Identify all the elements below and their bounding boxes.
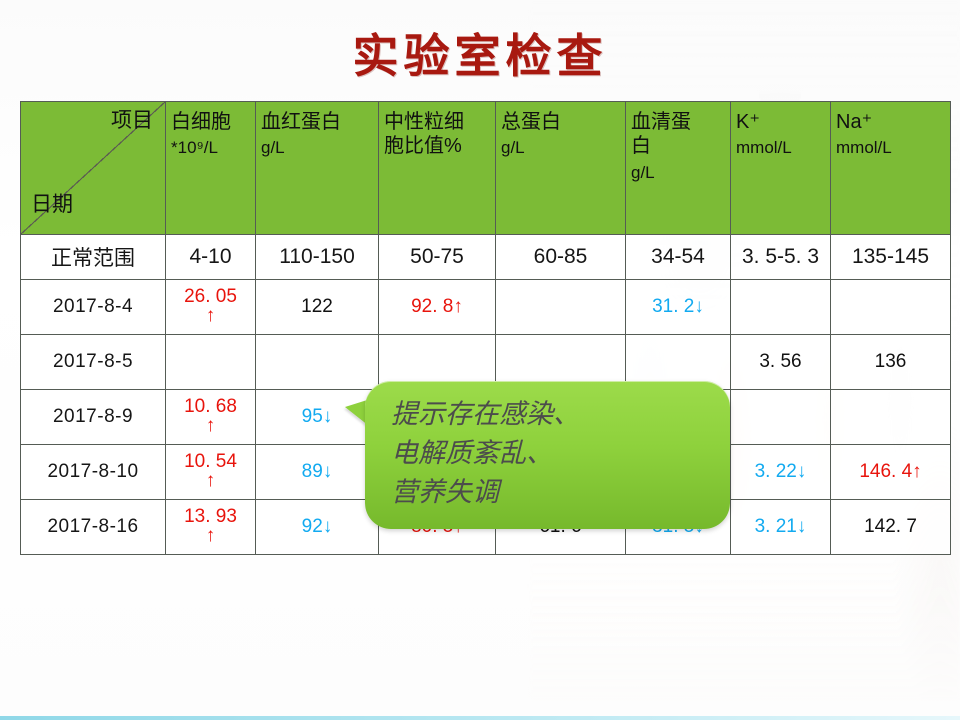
normal-range-value: 4-10 <box>166 235 256 280</box>
result-value: 146. 4↑ <box>859 462 921 482</box>
result-cell: 3. 56 <box>731 335 831 390</box>
result-cell: 3. 21↓ <box>731 500 831 555</box>
result-cell: 10. 54↑ <box>166 445 256 500</box>
header-col-wbc-unit: *10⁹/L <box>171 138 251 159</box>
header-col-sodium: Na⁺ mmol/L <box>831 102 951 235</box>
header-col-potassium: K⁺ mmol/L <box>731 102 831 235</box>
arrow-down-icon: ↓ <box>323 461 333 482</box>
table-header: 项目 日期 白细胞 *10⁹/L 血红蛋白 g/L 中性粒细 胞比值% 总蛋白 <box>21 102 951 235</box>
header-col-wbc: 白细胞 *10⁹/L <box>166 102 256 235</box>
result-number: 10. 68 <box>184 397 237 417</box>
result-cell <box>731 390 831 445</box>
result-cell: 10. 68↑ <box>166 390 256 445</box>
result-value: 89↓ <box>302 462 333 482</box>
header-col-neutrophil: 中性粒细 胞比值% <box>379 102 496 235</box>
row-date: 2017-8-10 <box>21 445 166 500</box>
result-value: 136 <box>875 352 907 372</box>
header-col-potassium-name: K⁺ <box>736 110 826 134</box>
arrow-down-icon: ↓ <box>797 461 807 482</box>
result-cell <box>831 280 951 335</box>
normal-range-row: 正常范围4-10110-15050-7560-8534-543. 5-5. 31… <box>21 235 951 280</box>
arrow-up-icon: ↑ <box>206 525 216 546</box>
arrow-down-icon: ↓ <box>797 516 807 537</box>
result-value: 95↓ <box>302 407 333 427</box>
header-col-potassium-unit: mmol/L <box>736 138 826 159</box>
result-cell: 92. 8↑ <box>379 280 496 335</box>
result-cell <box>496 280 626 335</box>
header-corner-cell: 项目 日期 <box>21 102 166 235</box>
normal-range-value: 3. 5-5. 3 <box>731 235 831 280</box>
row-date: 2017-8-5 <box>21 335 166 390</box>
result-value: 31. 2↓ <box>652 297 704 317</box>
result-value: 3. 22↓ <box>755 462 807 482</box>
result-cell: 13. 93↑ <box>166 500 256 555</box>
page-title: 实验室检查 <box>0 20 960 86</box>
result-value: 10. 54↑ <box>184 452 237 492</box>
header-col-hemoglobin-unit: g/L <box>261 138 374 159</box>
result-value: 3. 21↓ <box>755 517 807 537</box>
header-col-serum-albumin-name: 血清蛋 白 <box>631 110 726 159</box>
normal-range-value: 50-75 <box>379 235 496 280</box>
header-col-total-protein-name: 总蛋白 <box>501 110 621 134</box>
result-value: 3. 56 <box>759 352 801 372</box>
header-col-sodium-name: Na⁺ <box>836 110 946 134</box>
table-row: 2017-8-426. 05↑12292. 8↑31. 2↓ <box>21 280 951 335</box>
header-col-total-protein-unit: g/L <box>501 138 621 159</box>
header-col-hemoglobin-name: 血红蛋白 <box>261 110 374 134</box>
normal-range-label: 正常范围 <box>21 235 166 280</box>
row-date: 2017-8-16 <box>21 500 166 555</box>
result-cell: 26. 05↑ <box>166 280 256 335</box>
bottom-accent-bar <box>0 716 960 720</box>
result-cell <box>731 280 831 335</box>
header-col-total-protein: 总蛋白 g/L <box>496 102 626 235</box>
result-value: 92. 8↑ <box>411 297 463 317</box>
result-value: 13. 93↑ <box>184 507 237 547</box>
arrow-up-icon: ↑ <box>912 461 922 482</box>
header-corner-item-label: 项目 <box>111 108 153 134</box>
result-value: 142. 7 <box>864 517 917 537</box>
arrow-up-icon: ↑ <box>206 305 216 326</box>
arrow-down-icon: ↓ <box>694 296 704 317</box>
row-date: 2017-8-4 <box>21 280 166 335</box>
result-number: 26. 05 <box>184 287 237 307</box>
arrow-up-icon: ↑ <box>453 296 463 317</box>
header-col-neutrophil-name: 中性粒细 胞比值% <box>384 110 491 159</box>
result-cell: 122 <box>256 280 379 335</box>
result-value: 92↓ <box>302 517 333 537</box>
header-col-hemoglobin: 血红蛋白 g/L <box>256 102 379 235</box>
normal-range-value: 34-54 <box>626 235 731 280</box>
callout-annotation: 提示存在感染、 电解质紊乱、 营养失调 <box>345 381 730 529</box>
result-cell: 146. 4↑ <box>831 445 951 500</box>
header-col-wbc-name: 白细胞 <box>171 110 251 134</box>
result-value: 26. 05↑ <box>184 287 237 327</box>
result-value: 10. 68↑ <box>184 397 237 437</box>
result-cell <box>166 335 256 390</box>
result-number: 13. 93 <box>184 507 237 527</box>
result-cell <box>831 390 951 445</box>
arrow-down-icon: ↓ <box>323 516 333 537</box>
result-cell: 3. 22↓ <box>731 445 831 500</box>
callout-text: 提示存在感染、 电解质紊乱、 营养失调 <box>391 395 714 512</box>
result-number: 10. 54 <box>184 452 237 472</box>
slide-canvas: 实验室检查 项目 日期 白细胞 *10⁹/L <box>0 0 960 720</box>
result-cell: 142. 7 <box>831 500 951 555</box>
normal-range-value: 110-150 <box>256 235 379 280</box>
result-cell: 136 <box>831 335 951 390</box>
header-corner-date-label: 日期 <box>31 192 73 218</box>
arrow-up-icon: ↑ <box>206 415 216 436</box>
normal-range-value: 135-145 <box>831 235 951 280</box>
callout-bubble: 提示存在感染、 电解质紊乱、 营养失调 <box>365 381 730 529</box>
result-value: 122 <box>301 297 333 317</box>
arrow-down-icon: ↓ <box>323 406 333 427</box>
normal-range-value: 60-85 <box>496 235 626 280</box>
row-date: 2017-8-9 <box>21 390 166 445</box>
header-col-serum-albumin: 血清蛋 白 g/L <box>626 102 731 235</box>
header-col-sodium-unit: mmol/L <box>836 138 946 159</box>
arrow-up-icon: ↑ <box>206 470 216 491</box>
header-col-serum-albumin-unit: g/L <box>631 163 726 184</box>
header-row: 项目 日期 白细胞 *10⁹/L 血红蛋白 g/L 中性粒细 胞比值% 总蛋白 <box>21 102 951 235</box>
result-cell: 31. 2↓ <box>626 280 731 335</box>
